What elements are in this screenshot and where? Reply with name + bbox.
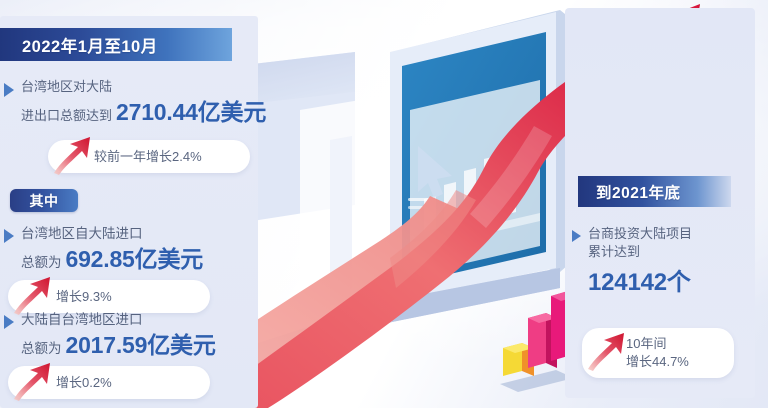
stat-mainland-import-prefix: 总额为 — [21, 339, 62, 358]
stat-mainland-import-line1: 大陆自台湾地区进口 — [21, 310, 216, 329]
bullet-triangle-icon — [4, 229, 14, 243]
stat-taiwan-import-line1: 台湾地区自大陆进口 — [21, 224, 203, 243]
up-arrow-icon — [14, 282, 48, 312]
stat-total-trade-line2: 进出口总额达到 — [21, 107, 112, 125]
pill-decade-line2: 增长44.7% — [626, 353, 689, 371]
period-header-label: 2022年1月至10月 — [22, 33, 158, 57]
pill-decade-growth: 10年间 增长44.7% — [582, 328, 734, 378]
up-arrow-icon — [588, 338, 622, 368]
year-header-label: 到2021年底 — [596, 181, 680, 203]
stat-mainland-import: 大陆自台湾地区进口 总额为 2017.59亿美元 — [4, 310, 216, 362]
stat-projects-line1: 台商投资大陆项目 — [588, 225, 692, 243]
among-badge: 其中 — [10, 189, 78, 212]
pill-mainland-import-growth: 增长0.2% — [8, 366, 210, 399]
stat-taiwan-import: 台湾地区自大陆进口 总额为 692.85亿美元 — [4, 224, 203, 276]
infographic-canvas: 2022年1月至10月 台湾地区对大陆 进出口总额达到 2710.44亿美元 较… — [0, 0, 768, 408]
stat-total-trade-value: 2710.44亿美元 — [116, 96, 266, 129]
stat-projects-line2: 累计达到 — [588, 243, 692, 261]
among-badge-label: 其中 — [30, 191, 59, 211]
stat-taiwan-import-value: 692.85亿美元 — [66, 243, 204, 276]
stat-taiwan-import-prefix: 总额为 — [21, 253, 62, 272]
pill-mainland-import-label: 增长0.2% — [56, 374, 112, 392]
pill-taiwan-import-growth: 增长9.3% — [8, 280, 210, 313]
pill-total-trade-growth: 较前一年增长2.4% — [48, 140, 250, 173]
stat-total-trade: 台湾地区对大陆 进出口总额达到 2710.44亿美元 — [4, 78, 266, 129]
up-arrow-icon — [54, 142, 88, 172]
bullet-triangle-icon — [4, 315, 14, 329]
year-header-bar: 到2021年底 — [578, 176, 731, 207]
period-header-bar: 2022年1月至10月 — [0, 28, 232, 61]
stat-investment-projects: 台商投资大陆项目 累计达到 124142个 — [572, 225, 692, 300]
stat-total-trade-line1: 台湾地区对大陆 — [21, 78, 266, 96]
pill-decade-line1: 10年间 — [626, 335, 689, 353]
bullet-triangle-icon — [4, 83, 14, 97]
up-arrow-icon — [14, 368, 48, 398]
stat-mainland-import-value: 2017.59亿美元 — [66, 329, 216, 362]
bullet-triangle-icon — [572, 230, 581, 242]
pill-total-trade-label: 较前一年增长2.4% — [94, 148, 202, 166]
stat-projects-value: 124142个 — [588, 266, 692, 300]
pill-taiwan-import-label: 增长9.3% — [56, 288, 112, 306]
